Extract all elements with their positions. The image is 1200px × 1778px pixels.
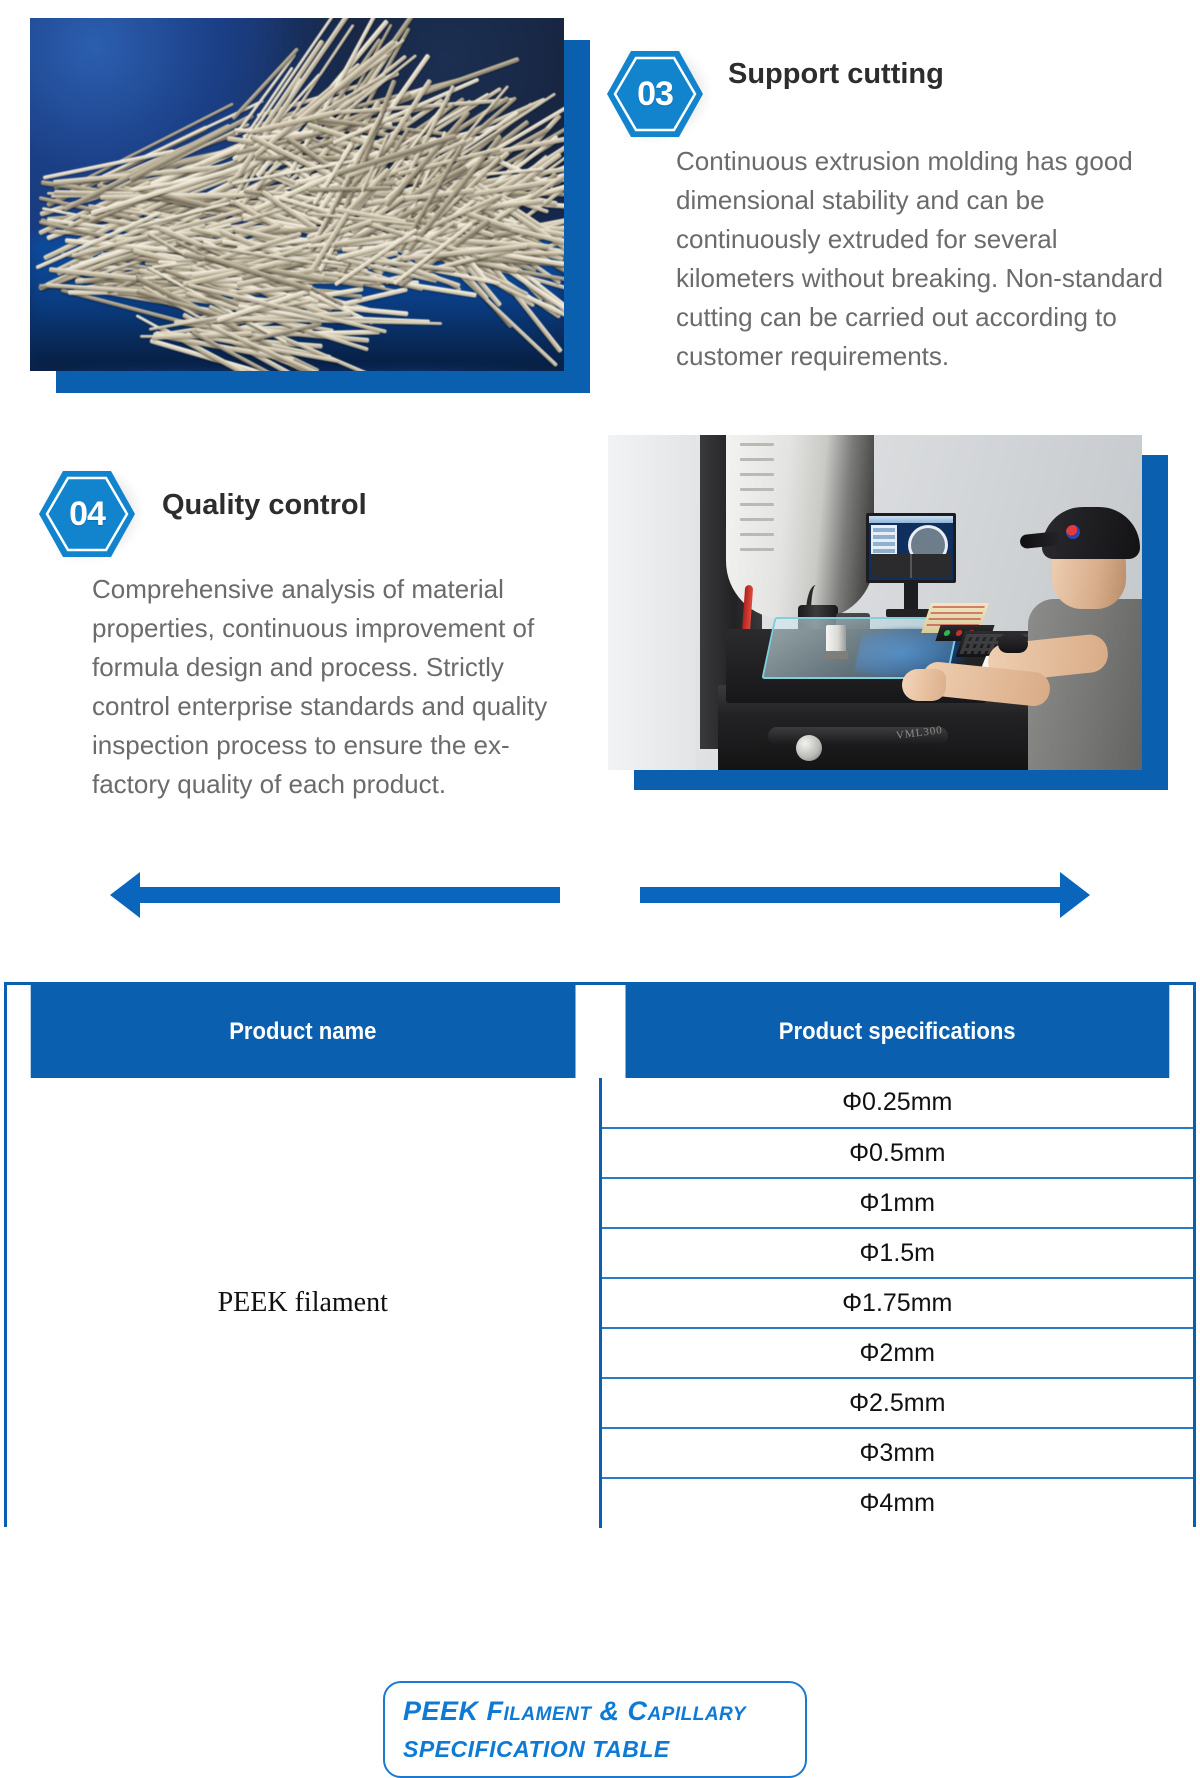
- header-product-name: Product name: [31, 985, 577, 1078]
- specification-table-banner: PEEK Filament & Capillary specification …: [0, 840, 1200, 944]
- cell-specification: Φ2.5mm: [600, 1378, 1193, 1428]
- section-badge-03: 03: [612, 46, 698, 142]
- cell-specification: Φ1mm: [600, 1178, 1193, 1228]
- peek-rods-photo-block: [30, 18, 590, 393]
- cell-specification: Φ0.5mm: [600, 1128, 1193, 1178]
- quality-inspection-photo-block: VML300: [608, 435, 1168, 790]
- section-number-04: 04: [44, 466, 130, 562]
- banner-title-line-2: specification table: [403, 1730, 787, 1768]
- sample-specimen: [826, 625, 846, 659]
- rod-bundle-illustration: [30, 18, 564, 371]
- arrow-right-shaft: [640, 887, 1060, 903]
- cell-specification: Φ1.75mm: [600, 1278, 1193, 1328]
- cell-product-name: PEEK filament: [7, 1078, 600, 1528]
- section-title-support-cutting: Support cutting: [728, 58, 944, 91]
- peek-rods-bundle-photo: [30, 18, 564, 371]
- measurement-monitor: [866, 513, 956, 583]
- table-header-row: Product name Product specifications: [7, 985, 1193, 1078]
- operator-hand: [902, 669, 946, 701]
- arrow-right-icon: [1060, 872, 1090, 918]
- table-row: PEEK filamentΦ0.25mm: [7, 1078, 1193, 1128]
- arrow-left-icon: [110, 872, 140, 918]
- machine-scale-ticks: [740, 443, 774, 565]
- table-body: PEEK filamentΦ0.25mmΦ0.5mmΦ1mmΦ1.5mΦ1.75…: [7, 1078, 1193, 1528]
- cap-logo: [1066, 525, 1080, 539]
- cell-specification: Φ1.5m: [600, 1228, 1193, 1278]
- monitor-stand: [904, 583, 918, 611]
- banner-title-box: PEEK Filament & Capillary specification …: [383, 1681, 807, 1778]
- section-title-quality-control: Quality control: [162, 489, 367, 522]
- arrow-left-shaft: [140, 887, 560, 903]
- section-number-03: 03: [612, 46, 698, 142]
- banner-title-line-1: PEEK Filament & Capillary: [403, 1692, 787, 1730]
- cell-specification: Φ4mm: [600, 1478, 1193, 1528]
- adjustment-knob: [796, 735, 822, 761]
- section-body-quality-control: Comprehensive analysis of material prope…: [92, 570, 582, 804]
- computer-mouse: [998, 633, 1028, 653]
- quality-inspection-vml300-photo: VML300: [608, 435, 1142, 770]
- cell-specification: Φ2mm: [600, 1328, 1193, 1378]
- specification-table: Product name Product specifications PEEK…: [4, 982, 1196, 1527]
- operator-person: [1006, 481, 1142, 770]
- cell-specification: Φ3mm: [600, 1428, 1193, 1478]
- header-product-specifications: Product specifications: [624, 985, 1170, 1078]
- cell-specification: Φ0.25mm: [600, 1078, 1193, 1128]
- section-badge-04: 04: [44, 466, 130, 562]
- operator-cap: [1042, 507, 1140, 559]
- section-body-support-cutting: Continuous extrusion molding has good di…: [676, 142, 1176, 376]
